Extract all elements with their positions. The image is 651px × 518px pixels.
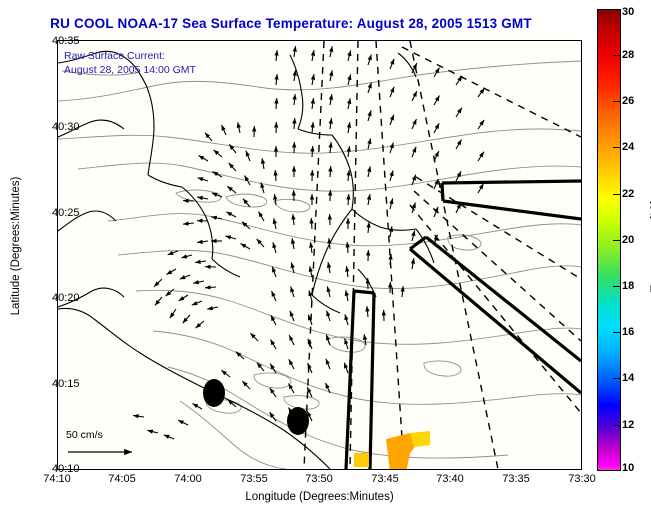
xtick-7: 73:35 — [502, 473, 530, 485]
highlight-square — [354, 453, 369, 467]
xtick-5: 73:45 — [371, 473, 399, 485]
ytick-4: 40:15 — [52, 378, 80, 390]
radial-transects — [304, 41, 581, 469]
cbtick-8: 14 — [622, 372, 634, 384]
map-canvas — [58, 41, 581, 469]
scale-reference-arrow — [66, 441, 156, 463]
cbtick-10: 10 — [622, 462, 634, 474]
sst-map-figure: RU COOL NOAA-17 Sea Surface Temperature:… — [0, 0, 651, 518]
cbtick-1: 28 — [622, 49, 634, 61]
annotation-block: Raw Surface Current: August 28, 2005 14:… — [64, 49, 196, 77]
cbtick-3: 24 — [622, 141, 634, 153]
xtick-2: 74:00 — [174, 473, 202, 485]
y-axis-label: Latitude (Degrees:Minutes) — [10, 146, 22, 346]
xtick-8: 73:30 — [568, 473, 596, 485]
cbtick-4: 22 — [622, 188, 634, 200]
coastline — [58, 51, 434, 469]
cbtick-2: 26 — [622, 95, 634, 107]
cbtick-7: 16 — [622, 326, 634, 338]
xtick-3: 73:55 — [240, 473, 268, 485]
figure-title: RU COOL NOAA-17 Sea Surface Temperature:… — [0, 16, 582, 31]
xtick-6: 73:40 — [436, 473, 464, 485]
cbtick-6: 18 — [622, 280, 634, 292]
xtick-4: 73:50 — [305, 473, 333, 485]
cbtick-9: 12 — [622, 419, 634, 431]
x-axis-label: Longitude (Degrees:Minutes) — [57, 491, 582, 503]
xtick-1: 74:05 — [108, 473, 136, 485]
ytick-3: 40:20 — [52, 292, 80, 304]
cbtick-0: 30 — [622, 6, 634, 18]
ytick-5: 40:10 — [52, 463, 80, 475]
annotation-line-2: August 28, 2005 14:00 GMT — [64, 63, 196, 77]
map-plot-area[interactable]: Raw Surface Current: August 28, 2005 14:… — [57, 40, 582, 470]
bathymetry-contours — [58, 61, 581, 469]
scale-legend-label: 50 cm/s — [66, 429, 156, 441]
annotation-line-1: Raw Surface Current: — [64, 49, 196, 63]
cbtick-5: 20 — [622, 234, 634, 246]
ytick-2: 40:25 — [52, 207, 80, 219]
ytick-1: 40:30 — [52, 121, 80, 133]
ytick-0: 40:35 — [52, 35, 80, 47]
